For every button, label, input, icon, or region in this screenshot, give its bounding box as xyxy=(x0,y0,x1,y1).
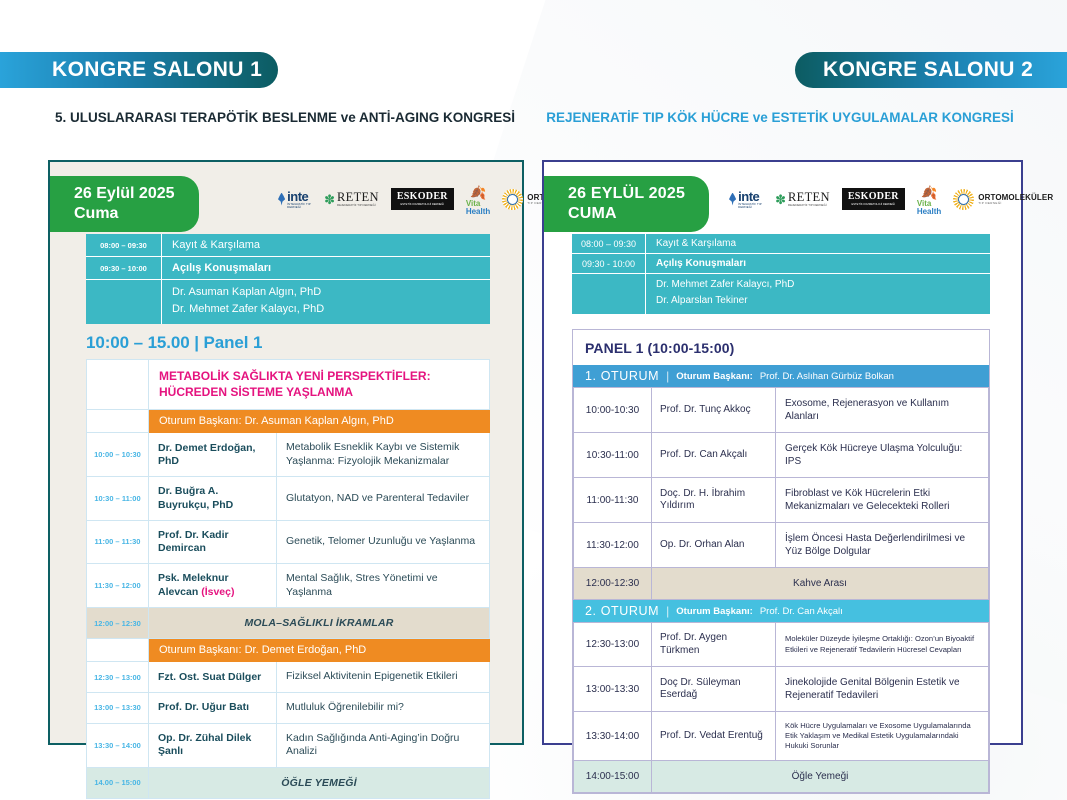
row-time: 12:30-13:00 xyxy=(574,623,652,667)
vita-health-logo: 🍂 Vita Health xyxy=(917,186,941,212)
lunch-time: 14.00 – 15:00 xyxy=(87,767,149,798)
table-row: 11:00 – 11:30 Prof. Dr. Kadir Demircan G… xyxy=(87,520,490,563)
row-time: 11:30-12:00 xyxy=(574,523,652,568)
row-topic: Glutatyon, NAD ve Parenteral Tedaviler xyxy=(277,477,490,520)
reten-logo-sub: REJENERATİF TIP DERNEĞİ xyxy=(788,204,830,207)
break-label: Kahve Arası xyxy=(652,568,989,600)
session-1-number: 1. OTURUM xyxy=(585,369,659,383)
lunch-time: 14:00-15:00 xyxy=(574,761,652,793)
inte-logo-sub: İNTEGRATİF TIP DERNEĞİ xyxy=(738,203,763,209)
opening-row: 08:00 – 09:30 Kayıt & Karşılama xyxy=(572,234,990,254)
congress-title-right: REJENERATİF TIP KÖK HÜCRE ve ESTETİK UYG… xyxy=(533,108,1027,128)
opening-row: 09:30 – 10:00 Açılış Konuşmaları xyxy=(86,257,490,280)
row-time: 11:00-11:30 xyxy=(574,478,652,523)
row-speaker: Prof. Dr. Aygen Türkmen xyxy=(652,623,776,667)
opening-speakers-row: Dr. Asuman Kaplan Algın, PhD Dr. Mehmet … xyxy=(86,280,490,324)
session-2-header: 2. OTURUM | Oturum Başkanı: Prof. Dr. Ca… xyxy=(573,600,989,622)
row-time: 13:30 – 14:00 xyxy=(87,723,149,767)
opening-text: Açılış Konuşmaları xyxy=(646,254,990,273)
row-speaker: Prof. Dr. Kadir Demircan xyxy=(149,520,277,563)
lunch-label: Öğle Yemeği xyxy=(652,761,989,793)
opening-speaker: Dr. Alparslan Tekiner xyxy=(656,293,794,309)
table-row: 10:00-10:30 Prof. Dr. Tunç Akkoç Exosome… xyxy=(574,388,989,433)
opening-speaker: Dr. Asuman Kaplan Algın, PhD xyxy=(172,284,324,301)
opening-text: Kayıt & Karşılama xyxy=(646,234,990,253)
opening-time: 08:00 – 09:30 xyxy=(86,234,162,256)
table-row: 13:00-13:30 Doç Dr. Süleyman Eserdağ Jin… xyxy=(574,667,989,712)
vita-health-logo: 🍂 Vita Health xyxy=(466,186,490,212)
row-topic: Fibroblast ve Kök Hücrelerin Etki Mekani… xyxy=(776,478,989,523)
hall-2-schedule-table-1: 10:00-10:30 Prof. Dr. Tunç Akkoç Exosome… xyxy=(573,387,989,600)
session-2-chair-name: Prof. Dr. Can Akçalı xyxy=(760,606,843,617)
session-chair: Oturum Başkanı: Dr. Demet Erdoğan, PhD xyxy=(149,639,490,662)
hall-1-banner: KONGRE SALONU 1 xyxy=(0,52,278,88)
session-2-number: 2. OTURUM xyxy=(585,604,659,618)
row-speaker: Dr. Buğra A. Buyrukçu, PhD xyxy=(149,477,277,520)
row-speaker: Fzt. Ost. Suat Dülger xyxy=(149,662,277,693)
row-topic: Kadın Sağlığında Anti-Aging’in Doğru Ana… xyxy=(277,723,490,767)
hall-2-schedule-table-2: 12:30-13:00 Prof. Dr. Aygen Türkmen Mole… xyxy=(573,622,989,793)
lunch-row: 14.00 – 15:00 ÖĞLE YEMEĞİ xyxy=(87,767,490,798)
opening-row: 08:00 – 09:30 Kayıt & Karşılama xyxy=(86,234,490,257)
table-row: 11:00-11:30 Doç. Dr. H. İbrahim Yıldırım… xyxy=(574,478,989,523)
row-time: 13:00-13:30 xyxy=(574,667,652,712)
session-1-chair-label: Oturum Başkanı: xyxy=(676,371,753,382)
hall-2-program: 08:00 – 09:30 Kayıt & Karşılama 09:30 - … xyxy=(572,234,990,794)
session-divider: | xyxy=(666,369,669,383)
row-topic: Kök Hücre Uygulamaları ve Exosome Uygula… xyxy=(776,712,989,761)
inte-logo: inte İNTEGRATİF TIP DERNEĞİ xyxy=(278,186,312,212)
row-topic: Metabolik Esneklik Kaybı ve Sistemik Yaş… xyxy=(277,433,490,477)
chair-time-cell xyxy=(87,639,149,662)
sponsor-logos-right: inte İNTEGRATİF TIP DERNEĞİ ✽ RETEN REJE… xyxy=(729,184,1053,214)
row-topic: Mutluluk Öğrenilebilir mi? xyxy=(277,692,490,723)
hall-2-schedule-card: 26 EYLÜL 2025 CUMA inte İNTEGRATİF TIP D… xyxy=(542,160,1023,745)
opening-speaker: Dr. Mehmet Zafer Kalaycı, PhD xyxy=(172,301,324,318)
row-speaker: Prof. Dr. Can Akçalı xyxy=(652,433,776,478)
row-speaker: Prof. Dr. Tunç Akkoç xyxy=(652,388,776,433)
session-2-chair-label: Oturum Başkanı: xyxy=(676,606,753,617)
eskoder-logo-sub: ESTETİK KOZMETOLOJİ DERNEĞİ xyxy=(851,203,895,206)
row-speaker: Prof. Dr. Uğur Batı xyxy=(149,692,277,723)
ortomolekuler-logo: ORTOMOLEKÜLER TIP DERNEĞİ xyxy=(953,186,1053,212)
panel-title-row: METABOLİK SAĞLIKTA YENİ PERSPEKTİFLER: H… xyxy=(87,360,490,410)
congress-title-left: 5. ULUSLARARASI TERAPÖTİK BESLENME ve AN… xyxy=(48,108,522,128)
health-logo-name: Health xyxy=(466,207,490,216)
row-topic: Gerçek Kök Hücreye Ulaşma Yolculuğu: IPS xyxy=(776,433,989,478)
date-line-2: Cuma xyxy=(74,204,175,224)
row-topic: Genetik, Telomer Uzunluğu ve Yaşlanma xyxy=(277,520,490,563)
eskoder-logo-name: ESKODER xyxy=(397,192,448,202)
reten-logo-name: RETEN xyxy=(788,191,830,204)
session-chair: Oturum Başkanı: Dr. Asuman Kaplan Algın,… xyxy=(149,410,490,433)
reten-logo-name: RETEN xyxy=(337,191,379,204)
break-time: 12:00-12:30 xyxy=(574,568,652,600)
row-speaker: Psk. Meleknur Alevcan (İsveç) xyxy=(149,563,277,607)
leaf-icon xyxy=(729,193,736,206)
panel-title: METABOLİK SAĞLIKTA YENİ PERSPEKTİFLER: H… xyxy=(149,360,490,410)
table-row: 12:30 – 13:00 Fzt. Ost. Suat Dülger Fizi… xyxy=(87,662,490,693)
row-speaker: Doç. Dr. H. İbrahim Yıldırım xyxy=(652,478,776,523)
break-row: 12:00-12:30 Kahve Arası xyxy=(574,568,989,600)
hall-2-panel-box: PANEL 1 (10:00-15:00) 1. OTURUM | Oturum… xyxy=(572,329,990,794)
opening-text: Açılış Konuşmaları xyxy=(162,257,490,279)
row-time: 10:30 – 11:00 xyxy=(87,477,149,520)
table-row: 13:00 – 13:30 Prof. Dr. Uğur Batı Mutlul… xyxy=(87,692,490,723)
inte-logo-name: inte xyxy=(738,190,763,203)
opening-speakers-row: Dr. Mehmet Zafer Kalaycı, PhD Dr. Alpars… xyxy=(572,274,990,314)
opening-time: 09:30 – 10:00 xyxy=(86,257,162,279)
opening-speakers: Dr. Asuman Kaplan Algın, PhD Dr. Mehmet … xyxy=(162,280,334,324)
hall-2-opening-block: 08:00 – 09:30 Kayıt & Karşılama 09:30 - … xyxy=(572,234,990,314)
opening-time-empty xyxy=(86,280,162,324)
table-row: 10:30-11:00 Prof. Dr. Can Akçalı Gerçek … xyxy=(574,433,989,478)
hall-1-schedule-table: METABOLİK SAĞLIKTA YENİ PERSPEKTİFLER: H… xyxy=(86,359,490,799)
row-speaker: Doç Dr. Süleyman Eserdağ xyxy=(652,667,776,712)
row-speaker-country: (İsveç) xyxy=(201,586,234,598)
eskoder-logo: ESKODER ESTETİK KOZMETOLOJİ DERNEĞİ xyxy=(391,188,454,210)
hall-2-panel-heading: PANEL 1 (10:00-15:00) xyxy=(573,330,989,365)
hall-1-program: 08:00 – 09:30 Kayıt & Karşılama 09:30 – … xyxy=(86,234,490,799)
table-row: 11:30 – 12:00 Psk. Meleknur Alevcan (İsv… xyxy=(87,563,490,607)
row-time: 10:00 – 10:30 xyxy=(87,433,149,477)
vita-leaf-icon: 🍂 xyxy=(470,186,486,199)
chair-row: Oturum Başkanı: Dr. Demet Erdoğan, PhD xyxy=(87,639,490,662)
hall-2-date-badge: 26 EYLÜL 2025 CUMA xyxy=(544,176,709,232)
reten-logo: ✽ RETEN REJENERATİF TIP DERNEĞİ xyxy=(775,186,830,212)
row-time: 13:00 – 13:30 xyxy=(87,692,149,723)
row-topic: Moleküler Düzeyde İyileşme Ortaklığı: Oz… xyxy=(776,623,989,667)
table-row: 10:00 – 10:30 Dr. Demet Erdoğan, PhD Met… xyxy=(87,433,490,477)
opening-speakers: Dr. Mehmet Zafer Kalaycı, PhD Dr. Alpars… xyxy=(646,274,804,314)
lunch-row: 14:00-15:00 Öğle Yemeği xyxy=(574,761,989,793)
eskoder-logo-sub: ESTETİK KOZMETOLOJİ DERNEĞİ xyxy=(400,203,444,206)
hall-1-panel-heading: 10:00 – 15.00 | Panel 1 xyxy=(86,333,490,353)
hall-2-banner: KONGRE SALONU 2 xyxy=(795,52,1067,88)
reten-mark-icon: ✽ xyxy=(775,193,786,206)
row-time: 11:30 – 12:00 xyxy=(87,563,149,607)
session-divider: | xyxy=(666,604,669,618)
opening-time-empty xyxy=(572,274,646,314)
hall-1-banner-label: KONGRE SALONU 1 xyxy=(52,58,262,82)
reten-logo-sub: REJENERATİF TIP DERNEĞİ xyxy=(337,204,379,207)
leaf-icon xyxy=(278,193,285,206)
inte-logo-name: inte xyxy=(287,190,312,203)
table-row: 13:30 – 14:00 Op. Dr. Zühal Dilek Şanlı … xyxy=(87,723,490,767)
inte-logo-sub: İNTEGRATİF TIP DERNEĞİ xyxy=(287,203,312,209)
table-row: 10:30 – 11:00 Dr. Buğra A. Buyrukçu, PhD… xyxy=(87,477,490,520)
hall-2-banner-label: KONGRE SALONU 2 xyxy=(823,58,1033,82)
sunburst-icon xyxy=(502,189,523,210)
sunburst-icon xyxy=(953,189,974,210)
row-time: 10:00-10:30 xyxy=(574,388,652,433)
break-label: MOLA–SAĞLIKLI İKRAMLAR xyxy=(149,608,490,639)
row-time: 11:00 – 11:30 xyxy=(87,520,149,563)
opening-speaker: Dr. Mehmet Zafer Kalaycı, PhD xyxy=(656,277,794,293)
session-1-chair-name: Prof. Dr. Aslıhan Gürbüz Bolkan xyxy=(760,371,894,382)
reten-logo: ✽ RETEN REJENERATİF TIP DERNEĞİ xyxy=(324,186,379,212)
row-speaker: Op. Dr. Zühal Dilek Şanlı xyxy=(149,723,277,767)
health-logo-name: Health xyxy=(917,207,941,216)
date-line-1: 26 Eylül 2025 xyxy=(74,184,175,204)
hall-1-opening-block: 08:00 – 09:30 Kayıt & Karşılama 09:30 – … xyxy=(86,234,490,324)
date-line-1: 26 EYLÜL 2025 xyxy=(568,184,685,204)
row-speaker: Op. Dr. Orhan Alan xyxy=(652,523,776,568)
row-topic: Fiziksel Aktivitenin Epigenetik Etkileri xyxy=(277,662,490,693)
session-1-header: 1. OTURUM | Oturum Başkanı: Prof. Dr. As… xyxy=(573,365,989,387)
date-line-2: CUMA xyxy=(568,204,685,224)
row-time: 13:30-14:00 xyxy=(574,712,652,761)
eskoder-logo-name: ESKODER xyxy=(848,192,899,202)
row-topic: Mental Sağlık, Stres Yönetimi ve Yaşlanm… xyxy=(277,563,490,607)
break-time: 12:00 – 12:30 xyxy=(87,608,149,639)
opening-time: 09:30 - 10:00 xyxy=(572,254,646,273)
hall-1-schedule-card: 26 Eylül 2025 Cuma inte İNTEGRATİF TIP D… xyxy=(48,160,524,745)
opening-row: 09:30 - 10:00 Açılış Konuşmaları xyxy=(572,254,990,274)
row-speaker: Dr. Demet Erdoğan, PhD xyxy=(149,433,277,477)
row-time: 12:30 – 13:00 xyxy=(87,662,149,693)
vita-leaf-icon: 🍂 xyxy=(921,186,937,199)
lunch-label: ÖĞLE YEMEĞİ xyxy=(149,767,490,798)
chair-time-cell xyxy=(87,410,149,433)
row-time: 10:30-11:00 xyxy=(574,433,652,478)
opening-time: 08:00 – 09:30 xyxy=(572,234,646,253)
break-row: 12:00 – 12:30 MOLA–SAĞLIKLI İKRAMLAR xyxy=(87,608,490,639)
panel-title-time-cell xyxy=(87,360,149,410)
inte-logo: inte İNTEGRATİF TIP DERNEĞİ xyxy=(729,186,763,212)
eskoder-logo: ESKODER ESTETİK KOZMETOLOJİ DERNEĞİ xyxy=(842,188,905,210)
reten-mark-icon: ✽ xyxy=(324,193,335,206)
orto-logo-sub: TIP DERNEĞİ xyxy=(978,202,1053,205)
row-topic: Jinekolojide Genital Bölgenin Estetik ve… xyxy=(776,667,989,712)
table-row: 12:30-13:00 Prof. Dr. Aygen Türkmen Mole… xyxy=(574,623,989,667)
chair-row: Oturum Başkanı: Dr. Asuman Kaplan Algın,… xyxy=(87,410,490,433)
row-speaker: Prof. Dr. Vedat Erentuğ xyxy=(652,712,776,761)
table-row: 11:30-12:00 Op. Dr. Orhan Alan İşlem Önc… xyxy=(574,523,989,568)
row-topic: İşlem Öncesi Hasta Değerlendirilmesi ve … xyxy=(776,523,989,568)
row-topic: Exosome, Rejenerasyon ve Kullanım Alanla… xyxy=(776,388,989,433)
opening-text: Kayıt & Karşılama xyxy=(162,234,490,256)
hall-1-date-badge: 26 Eylül 2025 Cuma xyxy=(50,176,199,232)
table-row: 13:30-14:00 Prof. Dr. Vedat Erentuğ Kök … xyxy=(574,712,989,761)
